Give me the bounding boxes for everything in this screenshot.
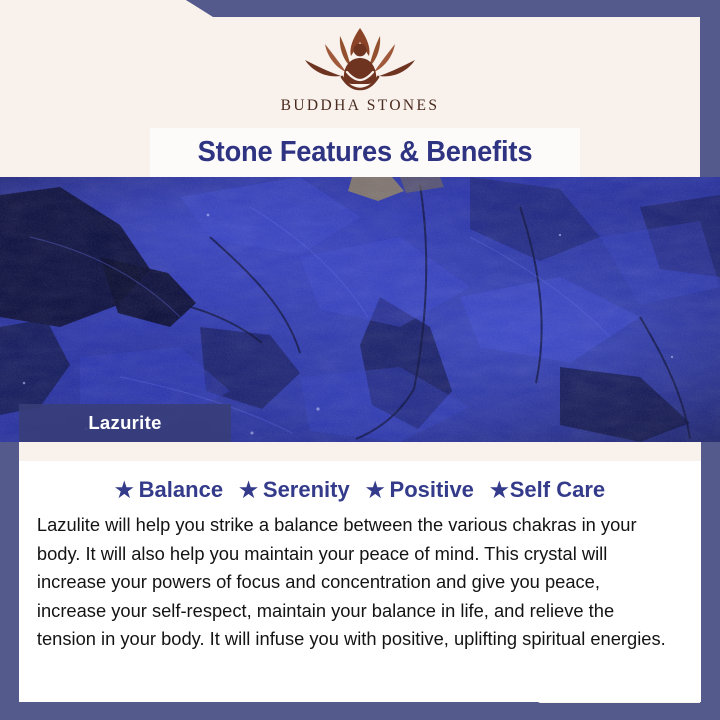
- content-divider: [19, 442, 701, 461]
- keyword-label: Self Care: [510, 477, 605, 503]
- keyword-self-care: ★ Self Care: [490, 477, 605, 503]
- brand-logo: BUDDHA STONES: [0, 22, 720, 127]
- keyword-label: Positive: [390, 477, 474, 503]
- star-icon: ★: [239, 480, 258, 501]
- keyword-label: Balance: [139, 477, 223, 503]
- stone-name: Lazurite: [88, 412, 161, 434]
- bottom-accent-band: [0, 702, 540, 720]
- page-title: Stone Features & Benefits: [198, 136, 533, 169]
- star-icon: ★: [115, 480, 134, 501]
- keyword-positive: ★ Positive: [366, 477, 474, 503]
- lotus-meditation-figure-icon: [285, 22, 435, 94]
- brand-name: BUDDHA STONES: [281, 97, 440, 115]
- star-icon: ★: [490, 480, 509, 501]
- left-accent-band: [0, 442, 19, 720]
- top-accent-band: [186, 0, 720, 17]
- keyword-label: Serenity: [263, 477, 350, 503]
- lazurite-texture-image: [0, 177, 720, 442]
- keyword-serenity: ★ Serenity: [239, 477, 350, 503]
- content-panel: ★ Balance ★ Serenity ★ Positive ★ Self C…: [19, 461, 701, 702]
- title-panel: Stone Features & Benefits: [150, 128, 580, 177]
- stone-info-card: BUDDHA STONES Stone Features & Benefits: [0, 0, 720, 720]
- stone-photo: Lazurite: [0, 177, 720, 442]
- stone-description: Lazulite will help you strike a balance …: [31, 511, 679, 654]
- keyword-balance: ★ Balance: [115, 477, 223, 503]
- stone-name-badge: Lazurite: [19, 404, 231, 442]
- keyword-list: ★ Balance ★ Serenity ★ Positive ★ Self C…: [31, 477, 689, 503]
- star-icon: ★: [366, 480, 385, 501]
